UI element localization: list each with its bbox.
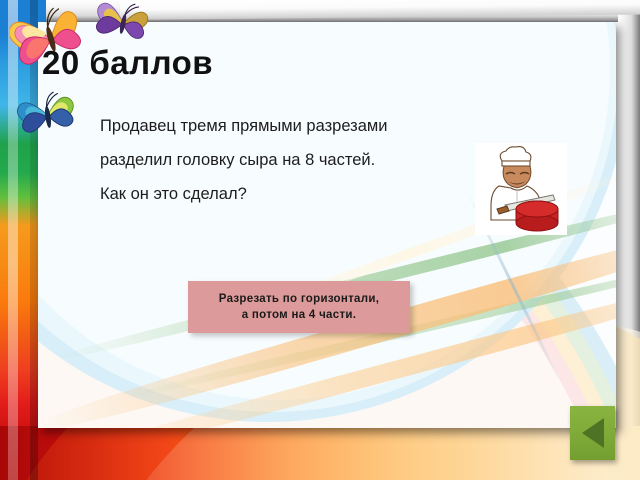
answer-box[interactable]: Разрезать по горизонтали, а потом на 4 ч…	[188, 281, 410, 333]
back-arrow-icon	[582, 418, 604, 448]
answer-line-1: Разрезать по горизонтали,	[219, 293, 379, 305]
butterfly-purple-gold-icon	[92, 0, 154, 55]
cheesemonger-image	[475, 143, 567, 235]
question-line-2: разделил головку сыра на 8 частей.	[100, 148, 470, 173]
presentation-slide: 20 баллов Продавец тремя прямыми разреза…	[0, 0, 640, 480]
slide-canvas: 20 баллов Продавец тремя прямыми разреза…	[38, 22, 616, 428]
cheese-illustration	[475, 143, 567, 235]
question-line-3: Как он это сделал?	[100, 182, 470, 207]
question-line-1: Продавец тремя прямыми разрезами	[100, 114, 470, 139]
frame-bottom-rainbow	[0, 426, 640, 480]
back-button[interactable]	[570, 406, 615, 460]
answer-text: Разрезать по горизонтали, а потом на 4 ч…	[219, 291, 379, 323]
answer-line-2: а потом на 4 части.	[242, 309, 357, 321]
butterfly-blue-green-icon	[14, 88, 82, 151]
question-text: Продавец тремя прямыми разрезами раздели…	[100, 114, 470, 216]
butterfly-pink-yellow-icon	[10, 2, 92, 81]
